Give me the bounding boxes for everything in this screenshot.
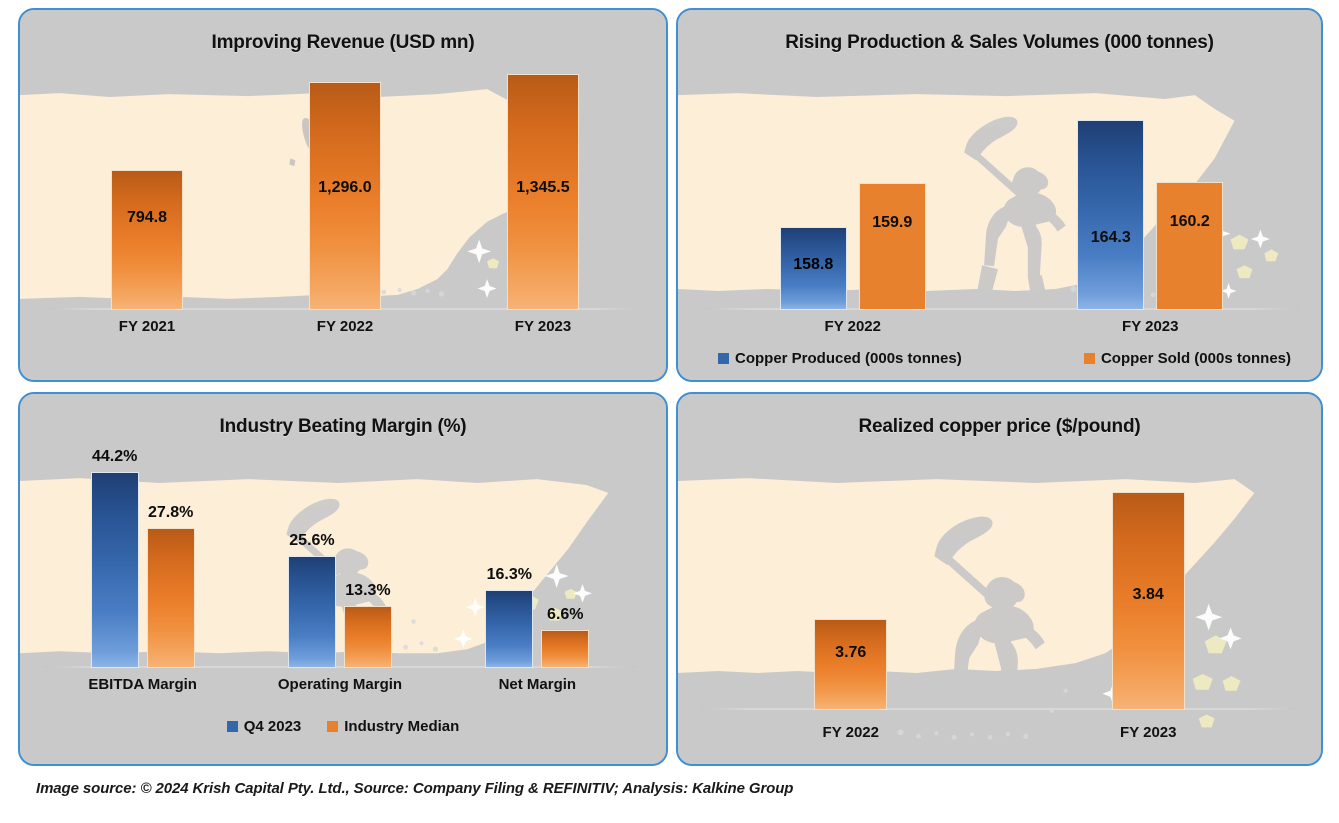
bar-group: 794.8 bbox=[48, 72, 246, 310]
bar-group: 1,345.5 bbox=[444, 72, 642, 310]
panel-rising-production-sales-volumes: Rising Production & Sales Volumes (000 t… bbox=[676, 8, 1323, 382]
category-label: FY 2022 bbox=[702, 724, 1000, 741]
bar-industry-median-net-margin[interactable]: 6.6% bbox=[541, 630, 589, 668]
panel-title: Realized copper price ($/pound) bbox=[678, 416, 1321, 438]
bar-revenue-fy2022[interactable]: 1,296.0 bbox=[309, 82, 381, 310]
bar-revenue-fy2021[interactable]: 794.8 bbox=[111, 170, 183, 310]
category-label: FY 2023 bbox=[444, 318, 642, 335]
bar-value-label: 27.8% bbox=[134, 504, 208, 522]
legend-swatch-blue bbox=[718, 353, 729, 364]
bar-industry-median-ebitda-margin[interactable]: 27.8% bbox=[147, 528, 195, 668]
bar-group: 16.3% 6.6% bbox=[439, 452, 636, 668]
panel-title: Industry Beating Margin (%) bbox=[20, 416, 666, 438]
panel-realized-copper-price: Realized copper price ($/pound) 3.76 3.8… bbox=[676, 392, 1323, 766]
bar-q4-2023-operating-margin[interactable]: 25.6% bbox=[288, 556, 336, 668]
category-label: Net Margin bbox=[439, 676, 636, 693]
category-label: FY 2021 bbox=[48, 318, 246, 335]
category-label: Operating Margin bbox=[241, 676, 438, 693]
bar-value-label: 1,296.0 bbox=[310, 179, 380, 197]
x-axis-categories: FY 2021 FY 2022 FY 2023 bbox=[48, 318, 642, 335]
bar-value-label: 1,345.5 bbox=[508, 179, 578, 197]
panel-improving-revenue: Improving Revenue (USD mn) 794.8 1,296.0… bbox=[18, 8, 668, 382]
bar-value-label: 3.76 bbox=[815, 644, 886, 662]
category-label: EBITDA Margin bbox=[44, 676, 241, 693]
bar-industry-median-operating-margin[interactable]: 13.3% bbox=[344, 606, 392, 668]
bar-copper-sold-fy2022[interactable]: 159.9 bbox=[859, 183, 926, 310]
x-axis-categories: EBITDA Margin Operating Margin Net Margi… bbox=[44, 676, 636, 693]
bar-value-label: 794.8 bbox=[112, 209, 182, 227]
chart-grid: Improving Revenue (USD mn) 794.8 1,296.0… bbox=[0, 0, 1339, 770]
plot-area: 3.76 3.84 bbox=[702, 460, 1297, 710]
legend-label: Industry Median bbox=[344, 718, 459, 735]
bar-copper-price-fy2023[interactable]: 3.84 bbox=[1112, 492, 1185, 710]
x-axis-categories: FY 2022 FY 2023 bbox=[702, 724, 1297, 741]
bar-copper-sold-fy2023[interactable]: 160.2 bbox=[1156, 182, 1223, 310]
bar-copper-price-fy2022[interactable]: 3.76 bbox=[814, 619, 887, 710]
category-label: FY 2023 bbox=[1002, 318, 1300, 335]
bar-value-label: 44.2% bbox=[78, 448, 152, 466]
legend-swatch-orange bbox=[327, 721, 338, 732]
legend-item-copper-produced[interactable]: Copper Produced (000s tonnes) bbox=[718, 350, 962, 367]
bar-value-label: 158.8 bbox=[781, 256, 846, 274]
bar-revenue-fy2023[interactable]: 1,345.5 bbox=[507, 74, 579, 310]
bar-group: 1,296.0 bbox=[246, 72, 444, 310]
legend-label: Copper Sold (000s tonnes) bbox=[1101, 350, 1291, 367]
category-label: FY 2023 bbox=[1000, 724, 1298, 741]
bar-value-label: 16.3% bbox=[472, 566, 546, 584]
plot-area: 158.8 159.9 164.3 160.2 bbox=[704, 60, 1299, 310]
bar-value-label: 164.3 bbox=[1078, 229, 1143, 247]
bar-value-label: 13.3% bbox=[331, 582, 405, 600]
legend: Q4 2023 Industry Median bbox=[20, 718, 666, 735]
bar-value-label: 3.84 bbox=[1113, 586, 1184, 604]
legend-label: Copper Produced (000s tonnes) bbox=[735, 350, 962, 367]
legend: Copper Produced (000s tonnes) Copper Sol… bbox=[718, 350, 1291, 367]
bar-group: 25.6% 13.3% bbox=[241, 452, 438, 668]
bar-group: 3.84 bbox=[1000, 460, 1298, 710]
bar-group: 3.76 bbox=[702, 460, 1000, 710]
legend-label: Q4 2023 bbox=[244, 718, 302, 735]
panel-title: Improving Revenue (USD mn) bbox=[20, 32, 666, 54]
plot-area: 44.2% 27.8% 25.6% 13.3% 16.3% bbox=[44, 452, 636, 668]
legend-swatch-blue bbox=[227, 721, 238, 732]
legend-item-q4-2023[interactable]: Q4 2023 bbox=[227, 718, 302, 735]
bar-value-label: 6.6% bbox=[528, 606, 602, 624]
bar-q4-2023-net-margin[interactable]: 16.3% bbox=[485, 590, 533, 668]
bar-group: 44.2% 27.8% bbox=[44, 452, 241, 668]
plot-area: 794.8 1,296.0 1,345.5 bbox=[48, 72, 642, 310]
legend-swatch-orange bbox=[1084, 353, 1095, 364]
category-label: FY 2022 bbox=[246, 318, 444, 335]
image-source-footer: Image source: © 2024 Krish Capital Pty. … bbox=[36, 780, 793, 797]
bar-copper-produced-fy2023[interactable]: 164.3 bbox=[1077, 120, 1144, 310]
bar-value-label: 25.6% bbox=[275, 532, 349, 550]
bar-value-label: 160.2 bbox=[1157, 213, 1222, 231]
legend-item-industry-median[interactable]: Industry Median bbox=[327, 718, 459, 735]
bar-copper-produced-fy2022[interactable]: 158.8 bbox=[780, 227, 847, 310]
x-axis-categories: FY 2022 FY 2023 bbox=[704, 318, 1299, 335]
category-label: FY 2022 bbox=[704, 318, 1002, 335]
bar-group: 158.8 159.9 bbox=[704, 60, 1002, 310]
bar-value-label: 159.9 bbox=[860, 214, 925, 232]
legend-item-copper-sold[interactable]: Copper Sold (000s tonnes) bbox=[1084, 350, 1291, 367]
bar-q4-2023-ebitda-margin[interactable]: 44.2% bbox=[91, 472, 139, 668]
bar-group: 164.3 160.2 bbox=[1002, 60, 1300, 310]
panel-title: Rising Production & Sales Volumes (000 t… bbox=[678, 32, 1321, 54]
panel-industry-beating-margin: Industry Beating Margin (%) 44.2% 27.8% … bbox=[18, 392, 668, 766]
